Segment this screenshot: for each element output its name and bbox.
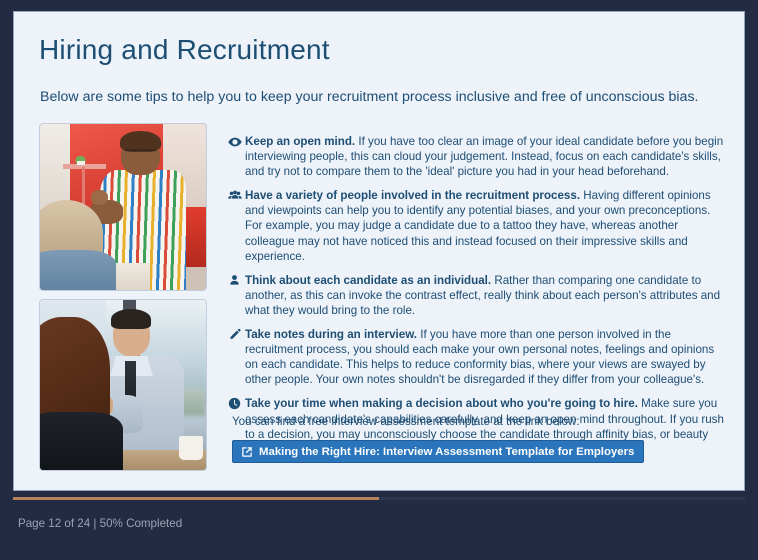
slide-content-card: Hiring and Recruitment Below are some ti…: [13, 11, 745, 491]
tip-item: Think about each candidate as an individ…: [228, 273, 728, 318]
tip-heading: Take notes during an interview.: [245, 328, 417, 341]
page-indicator: Page 12 of 24 | 50% Completed: [18, 517, 182, 530]
eye-icon: [228, 134, 245, 179]
page-title: Hiring and Recruitment: [39, 34, 330, 66]
interview-photo-man-tie: [40, 300, 206, 470]
tip-heading: Think about each candidate as an individ…: [245, 274, 491, 287]
tip-heading: Have a variety of people involved in the…: [245, 189, 580, 202]
assessment-template-link-label: Making the Right Hire: Interview Assessm…: [259, 446, 634, 458]
interview-photo-striped-shirt: [40, 124, 206, 290]
tip-text: Have a variety of people involved in the…: [245, 188, 728, 263]
slide-intro-text: Below are some tips to help you to keep …: [40, 88, 700, 107]
tip-text: Take notes during an interview. If you h…: [245, 327, 728, 387]
tip-text: Think about each candidate as an individ…: [245, 273, 728, 318]
tip-heading: Keep an open mind.: [245, 135, 355, 148]
tip-text: Keep an open mind. If you have too clear…: [245, 134, 728, 179]
closing-text: You can find a free interview assessment…: [232, 414, 722, 429]
slide-footer: Page 12 of 24 | 50% Completed ‹ Prev Nex…: [0, 503, 758, 560]
elearning-slide-viewer: Hiring and Recruitment Below are some ti…: [0, 0, 758, 560]
pencil-icon: [228, 327, 245, 387]
tip-item: Take notes during an interview. If you h…: [228, 327, 728, 387]
tip-item: Keep an open mind. If you have too clear…: [228, 134, 728, 179]
user-icon: [228, 273, 245, 318]
users-group-icon: [228, 188, 245, 263]
progress-bar-fill: [13, 497, 379, 500]
progress-bar-track: [13, 497, 745, 500]
external-link-icon: [241, 446, 253, 458]
media-column: [40, 124, 208, 470]
assessment-template-link[interactable]: Making the Right Hire: Interview Assessm…: [232, 440, 644, 463]
tip-heading: Take your time when making a decision ab…: [245, 397, 638, 410]
tip-item: Have a variety of people involved in the…: [228, 188, 728, 263]
